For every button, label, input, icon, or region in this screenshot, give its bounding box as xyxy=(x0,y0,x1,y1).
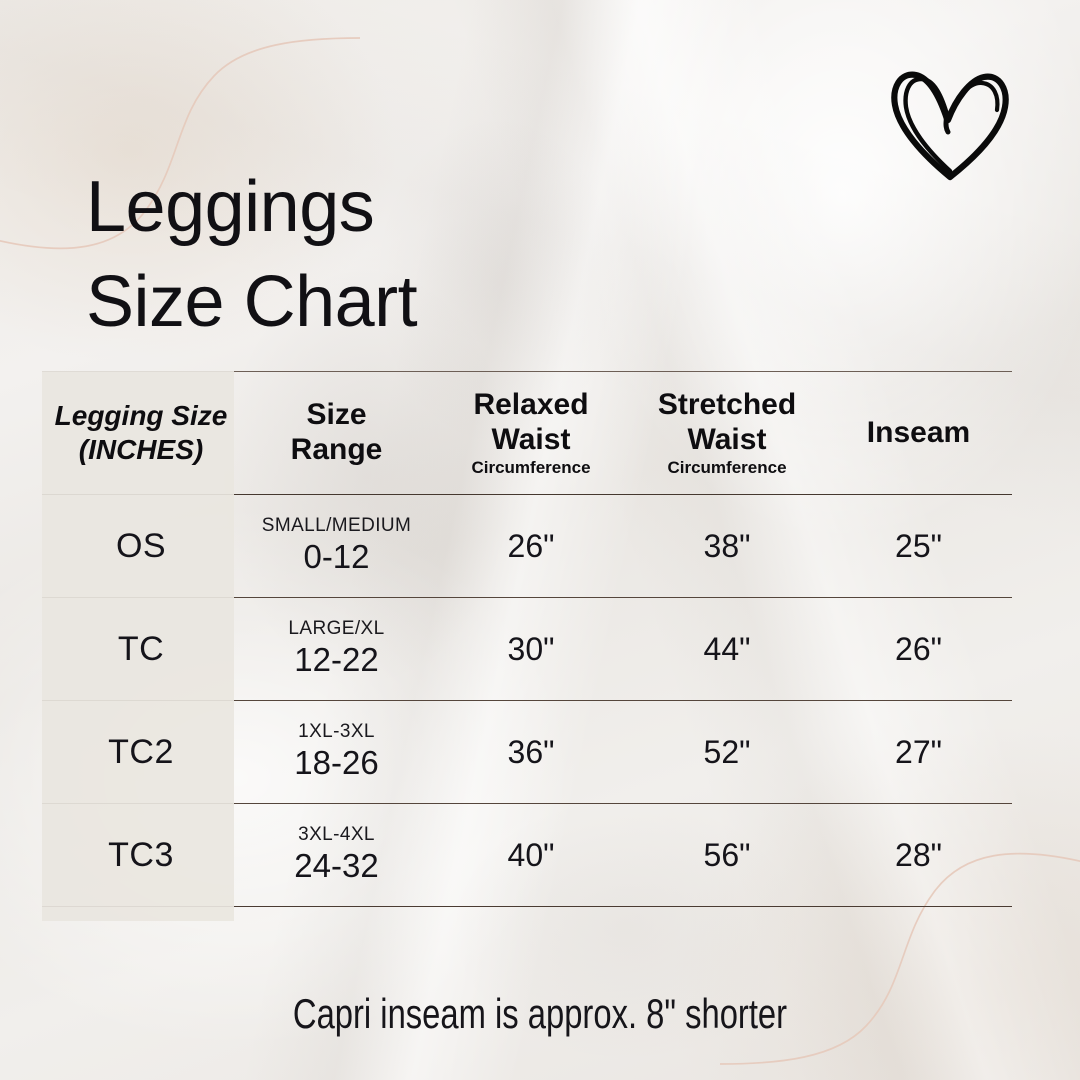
cell-inseam: 26" xyxy=(825,598,1012,701)
column-header-relaxed-waist-sub: Circumference xyxy=(433,459,629,478)
column-header-stretched-waist-main: Stretched xyxy=(629,388,825,423)
page-title-line-2: Size Chart xyxy=(86,255,726,350)
cell-size-range-label: 3XL-4XL xyxy=(240,825,433,846)
column-header-legging-size-unit: (INCHES) xyxy=(42,433,240,467)
cell-size: TC xyxy=(42,598,240,701)
cell-size-range-label: 1XL-3XL xyxy=(240,722,433,743)
cell-size-range-value: 18-26 xyxy=(240,744,433,782)
size-chart-canvas: Leggings Size Chart Legging Size (INCHES… xyxy=(0,0,1080,1080)
cell-size-range-label: LARGE/XL xyxy=(240,619,433,640)
size-table: Legging Size (INCHES) Size Range Relaxed… xyxy=(42,371,1012,907)
size-table-container: Legging Size (INCHES) Size Range Relaxed… xyxy=(42,371,1012,907)
heart-doodle-icon xyxy=(884,58,1016,186)
cell-stretched-waist: 44" xyxy=(629,598,825,701)
cell-size-range: SMALL/MEDIUM 0-12 xyxy=(240,495,433,598)
page-title-line-1: Leggings xyxy=(86,160,726,255)
cell-size-range-value: 0-12 xyxy=(240,538,433,576)
column-header-legging-size: Legging Size (INCHES) xyxy=(42,372,240,495)
cell-size: TC3 xyxy=(42,804,240,907)
footer-note: Capri inseam is approx. 8" shorter xyxy=(119,990,961,1038)
cell-size-range-value: 24-32 xyxy=(240,847,433,885)
cell-size-range: 1XL-3XL 18-26 xyxy=(240,701,433,804)
cell-size-range-value: 12-22 xyxy=(240,641,433,679)
column-header-stretched-waist: Stretched Waist Circumference xyxy=(629,372,825,495)
page-title: Leggings Size Chart xyxy=(86,160,726,350)
cell-relaxed-waist: 26" xyxy=(433,495,629,598)
column-header-stretched-waist-second: Waist xyxy=(629,423,825,458)
cell-relaxed-waist: 40" xyxy=(433,804,629,907)
cell-size: OS xyxy=(42,495,240,598)
column-header-relaxed-waist: Relaxed Waist Circumference xyxy=(433,372,629,495)
cell-stretched-waist: 38" xyxy=(629,495,825,598)
column-header-size-range-second: Range xyxy=(240,433,433,468)
column-header-stretched-waist-sub: Circumference xyxy=(629,459,825,478)
column-header-inseam-main: Inseam xyxy=(825,416,1012,451)
cell-relaxed-waist: 36" xyxy=(433,701,629,804)
header-row: Legging Size (INCHES) Size Range Relaxed… xyxy=(42,372,1012,495)
table-row: TC3 3XL-4XL 24-32 40" 56" 28" xyxy=(42,804,1012,907)
size-table-body: OS SMALL/MEDIUM 0-12 26" 38" 25" TC LARG… xyxy=(42,495,1012,907)
column-header-relaxed-waist-main: Relaxed xyxy=(433,388,629,423)
cell-size: TC2 xyxy=(42,701,240,804)
column-header-inseam: Inseam xyxy=(825,372,1012,495)
cell-stretched-waist: 52" xyxy=(629,701,825,804)
cell-inseam: 27" xyxy=(825,701,1012,804)
cell-inseam: 28" xyxy=(825,804,1012,907)
table-row: TC2 1XL-3XL 18-26 36" 52" 27" xyxy=(42,701,1012,804)
cell-stretched-waist: 56" xyxy=(629,804,825,907)
cell-size-range-label: SMALL/MEDIUM xyxy=(240,516,433,537)
cell-size-range: LARGE/XL 12-22 xyxy=(240,598,433,701)
cell-size-range: 3XL-4XL 24-32 xyxy=(240,804,433,907)
table-row: OS SMALL/MEDIUM 0-12 26" 38" 25" xyxy=(42,495,1012,598)
column-header-size-range-main: Size xyxy=(240,398,433,433)
cell-relaxed-waist: 30" xyxy=(433,598,629,701)
cell-inseam: 25" xyxy=(825,495,1012,598)
size-table-header: Legging Size (INCHES) Size Range Relaxed… xyxy=(42,372,1012,495)
column-header-size-range: Size Range xyxy=(240,372,433,495)
column-header-relaxed-waist-second: Waist xyxy=(433,423,629,458)
table-row: TC LARGE/XL 12-22 30" 44" 26" xyxy=(42,598,1012,701)
column-header-legging-size-main: Legging Size xyxy=(42,399,240,433)
